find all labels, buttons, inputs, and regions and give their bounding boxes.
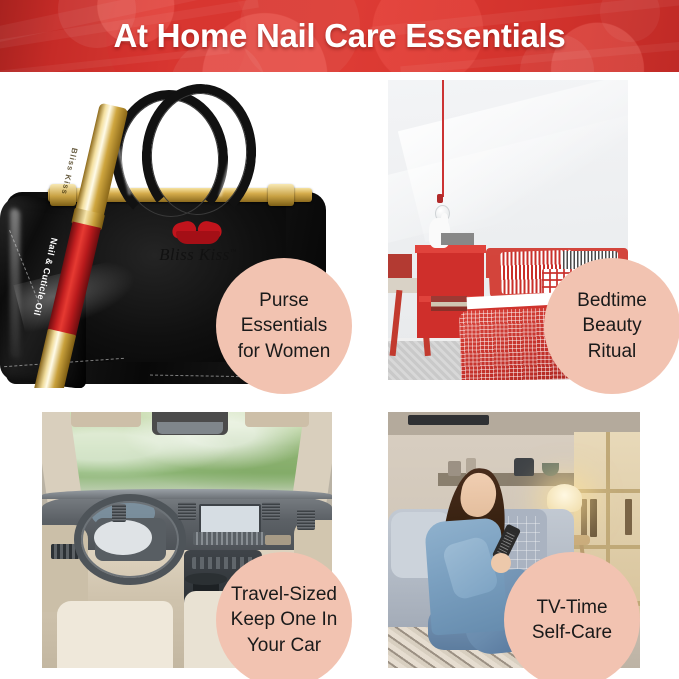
badge-tv-time: TV-Time Self-Care [504, 552, 640, 679]
counter-jar [448, 461, 461, 476]
badge-line: TV-Time [536, 595, 607, 620]
shelf-book [625, 499, 633, 535]
climate-controls [193, 532, 266, 545]
driver-seat [57, 601, 173, 668]
brand-name-text: Bliss Kiss [159, 245, 230, 264]
panel-tv-time-self-care: TV-Time Self-Care [388, 412, 679, 679]
infotainment-screen [199, 504, 261, 534]
lips-icon [150, 220, 246, 244]
side-box [388, 254, 412, 281]
badge-line: Beauty [582, 313, 641, 338]
shelf-book [590, 499, 598, 537]
air-vent [178, 502, 195, 520]
tv-soundbar [408, 415, 489, 425]
steering-wheel-hub [94, 520, 152, 556]
badge-travel-sized: Travel-Sized Keep One In Your Car [216, 552, 352, 679]
air-vent [297, 509, 314, 529]
badge-line: Ritual [588, 339, 637, 364]
pendant-cord [442, 80, 444, 197]
pendant-socket [437, 194, 443, 203]
door-handle [265, 535, 291, 545]
books-on-nightstand [441, 233, 475, 245]
air-vent [262, 502, 279, 520]
dashboard-lip [42, 489, 332, 499]
badge-line: Travel-Sized [231, 582, 337, 607]
badge-line: Self-Care [532, 620, 612, 645]
badge-line: Bedtime [577, 288, 647, 313]
brand-name: Bliss Kiss™ [150, 245, 246, 265]
badge-line: Purse [259, 288, 309, 313]
trademark-symbol: ™ [230, 247, 237, 255]
kettle [514, 458, 534, 476]
badge-line: Keep One In [231, 607, 338, 632]
sun-visor-left [71, 412, 141, 427]
badge-line: for Women [238, 339, 331, 364]
panel-travel-sized: Travel-Sized Keep One In Your Car [42, 412, 352, 679]
rearview-mirror [152, 412, 227, 435]
badge-line: Essentials [241, 313, 328, 338]
bliss-kiss-logo: Bliss Kiss™ [150, 220, 246, 265]
badge-line: Your Car [247, 633, 321, 658]
handbag-clasp-right [268, 184, 294, 206]
panel-grid: Bliss Kiss™ Bliss Kiss Nail & Cuticle Oi… [0, 72, 679, 679]
badge-purse-essentials: Purse Essentials for Women [216, 258, 352, 394]
panel-purse-essentials: Bliss Kiss™ Bliss Kiss Nail & Cuticle Oi… [0, 80, 352, 400]
header-banner: At Home Nail Care Essentials [0, 0, 679, 72]
panel-bedtime-ritual: Bedtime Beauty Ritual [388, 80, 679, 400]
table-lamp [547, 484, 582, 512]
sun-visor-right [245, 412, 309, 427]
page-title: At Home Nail Care Essentials [0, 0, 679, 72]
air-vent [112, 504, 127, 522]
badge-bedtime-ritual: Bedtime Beauty Ritual [544, 258, 679, 394]
infographic-page: At Home Nail Care Essentials [0, 0, 679, 679]
stacked-books [431, 296, 467, 311]
